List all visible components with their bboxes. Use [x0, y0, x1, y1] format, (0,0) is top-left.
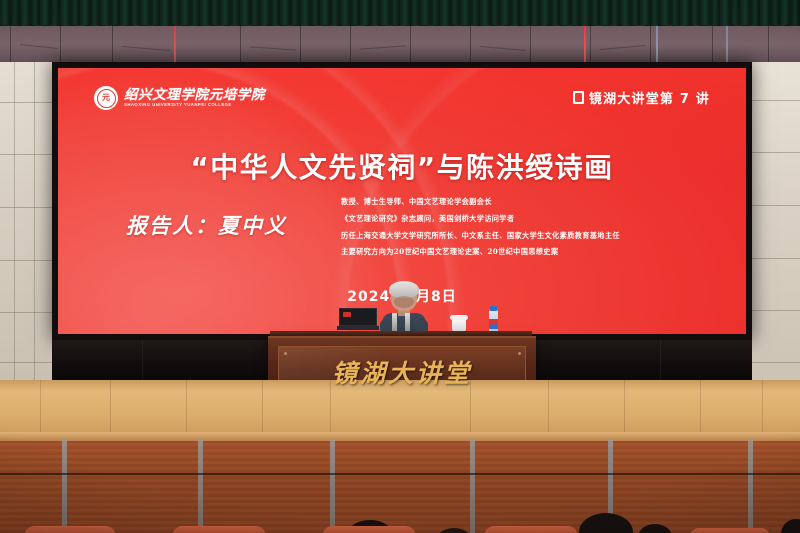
laptop-icon — [337, 308, 379, 330]
seal-icon: 元 — [94, 86, 118, 110]
wall-left — [0, 62, 56, 392]
teacup-icon — [452, 318, 466, 332]
stage-curtain — [0, 0, 800, 28]
bio-line: 历任上海交通大学文学研究所所长、中文系主任、国家大学生文化素质教育基地主任 — [341, 228, 741, 245]
screen-header: 元 绍兴文理学院元培学院 SHAOXING UNIVERSITY YUANPEI… — [58, 86, 746, 120]
bio-line: 主要研究方向为20世纪中国文艺理论史案、20世纪中国思想史案 — [341, 244, 741, 261]
audience-area — [0, 440, 800, 533]
institution-logo: 元 绍兴文理学院元培学院 SHAOXING UNIVERSITY YUANPEI… — [94, 86, 265, 110]
microphone-icon — [392, 313, 397, 333]
bio-line: 教授、博士生导师、中国文艺理论学会副会长 — [341, 194, 741, 211]
speaker-bio: 教授、博士生导师、中国文艺理论学会副会长 《文艺理论研究》杂志顾问，美国剑桥大学… — [341, 194, 741, 261]
audience-seat — [484, 526, 578, 533]
lecture-title: “中华人文先贤祠”与陈洪绶诗画 — [58, 146, 746, 186]
book-icon — [573, 91, 584, 104]
wall-right — [752, 62, 800, 392]
audience-seat — [690, 528, 770, 533]
lecture-hall-photo: 元 绍兴文理学院元培学院 SHAOXING UNIVERSITY YUANPEI… — [0, 0, 800, 533]
speaker-name: 报告人：夏中义 — [126, 210, 287, 240]
lecture-series-banner: 镜湖大讲堂第 7 讲 — [573, 88, 710, 107]
microphone-icon — [405, 313, 410, 333]
institution-name-cn: 绍兴文理学院元培学院 — [124, 88, 265, 102]
seal-glyph: 元 — [102, 94, 110, 102]
audience-seat — [24, 526, 116, 533]
audience-seat — [172, 526, 266, 533]
bio-line: 《文艺理论研究》杂志顾问，美国剑桥大学访问学者 — [341, 211, 741, 228]
back-wall-panels — [0, 26, 800, 66]
lectern-inscription: 镜湖大讲堂 — [332, 354, 472, 390]
lecture-series-text: 镜湖大讲堂第 7 讲 — [589, 88, 710, 107]
institution-name-en: SHAOXING UNIVERSITY YUANPEI COLLEGE — [124, 102, 265, 108]
audience-seat — [322, 526, 416, 533]
